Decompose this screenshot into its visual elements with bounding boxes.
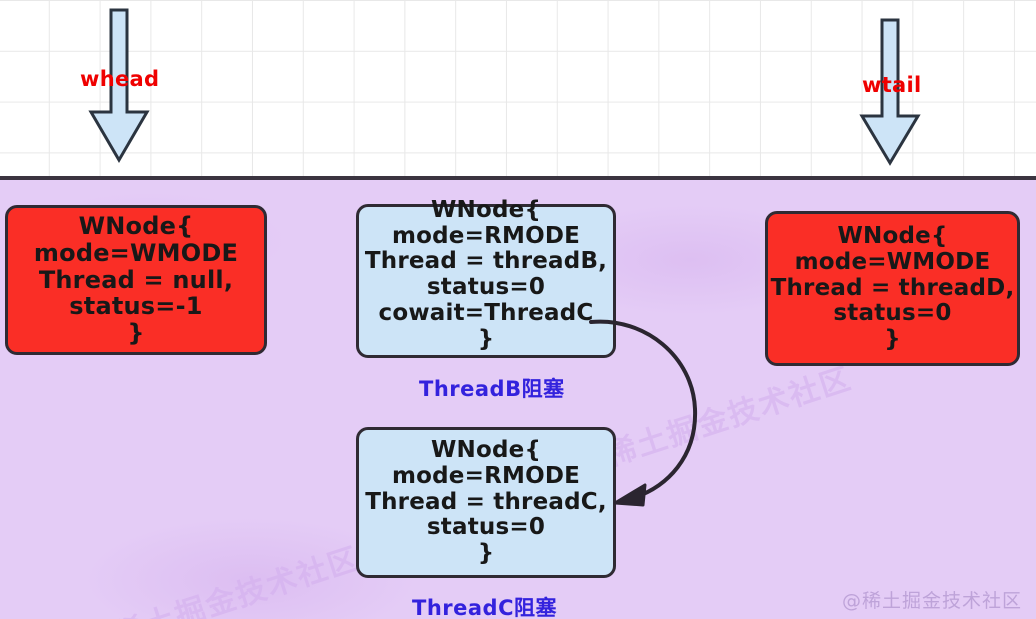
wnode-line: WNode{ (34, 213, 238, 240)
diagram-canvas: 稀土掘金技术社区 稀土掘金技术社区 稀土掘金技术社区 whead wtail W… (0, 0, 1036, 619)
threadc-caption: ThreadC阻塞 (412, 592, 557, 619)
wnode-line: mode=WMODE (771, 250, 1015, 276)
wnode-line: status=0 (365, 275, 607, 301)
wnode-line: cowait=ThreadC (365, 301, 607, 327)
wnode-line: status=-1 (34, 293, 238, 320)
wnode-line: status=0 (365, 515, 607, 541)
wnode-line: WNode{ (365, 438, 607, 464)
threadb-caption: ThreadB阻塞 (419, 373, 565, 403)
wnode-line: } (365, 541, 607, 567)
wnode-line: } (34, 320, 238, 347)
wnode-line: } (771, 327, 1015, 353)
wnode-line: mode=RMODE (365, 464, 607, 490)
wnode-line: WNode{ (771, 224, 1015, 250)
wnode-line: Thread = threadD, (771, 276, 1015, 302)
wnode-line: Thread = threadB, (365, 249, 607, 275)
watermark-tiled: 稀土掘金技术社区 (107, 534, 364, 619)
wnode-wtail[interactable]: WNode{ mode=WMODE Thread = threadD, stat… (765, 211, 1020, 366)
wnode-threadb[interactable]: WNode{ mode=RMODE Thread = threadB, stat… (356, 204, 616, 358)
whead-pointer-label: whead (80, 67, 159, 91)
wnode-line: status=0 (771, 301, 1015, 327)
wnode-line: } (365, 327, 607, 353)
wnode-line: Thread = threadC, (365, 490, 607, 516)
wnode-line: Thread = null, (34, 267, 238, 294)
wnode-line: mode=WMODE (34, 240, 238, 267)
wnode-threadc[interactable]: WNode{ mode=RMODE Thread = threadC, stat… (356, 427, 616, 578)
wtail-pointer-label: wtail (862, 73, 922, 97)
wnode-line: WNode{ (365, 198, 607, 224)
wnode-line: mode=RMODE (365, 224, 607, 250)
watermark-corner: @稀土掘金技术社区 (842, 586, 1022, 613)
watermark-tiled: 稀土掘金技术社区 (599, 354, 856, 475)
wnode-whead[interactable]: WNode{ mode=WMODE Thread = null, status=… (5, 205, 267, 355)
